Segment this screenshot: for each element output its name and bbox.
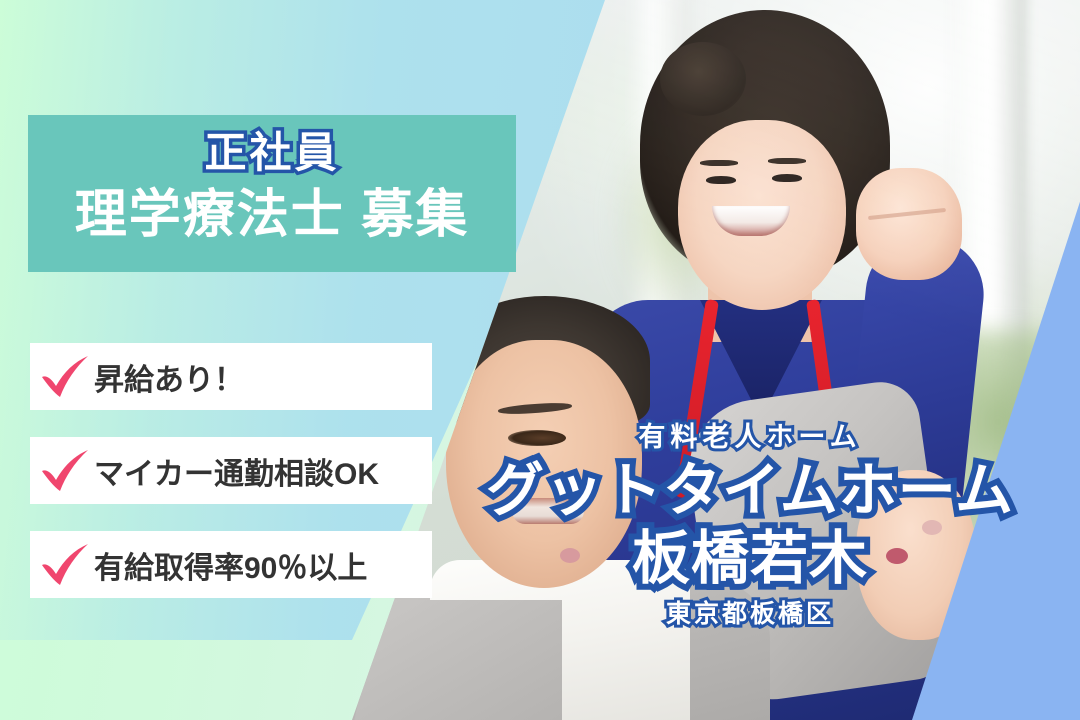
check-icon	[38, 447, 94, 495]
facility-area: 東京都板橋区	[470, 602, 1030, 627]
headline-band: 正社員 理学療法士 募集	[28, 115, 516, 272]
list-item: 有給取得率90％以上	[30, 531, 432, 598]
facility-name-line2: 板橋若木	[470, 525, 1030, 593]
recruitment-poster: 正社員 理学療法士 募集 昇給あり！ マイカー通勤相談OK	[0, 0, 1080, 720]
caregiver-eye-left	[706, 176, 736, 184]
page-title: 理学療法士 募集	[28, 183, 516, 248]
caregiver-fist	[856, 168, 962, 280]
list-item-label: 昇給あり！	[94, 355, 244, 399]
caregiver-eyebrow-left	[700, 160, 738, 166]
facility-name-line1: グットタイムホーム	[470, 457, 1030, 525]
caregiver-hair-bun	[660, 42, 746, 116]
facility-identity: 有料老人ホーム グットタイムホーム 板橋若木 東京都板橋区	[470, 424, 1030, 627]
benefits-checklist: 昇給あり！ マイカー通勤相談OK 有給取得率90％以上	[30, 343, 432, 625]
list-item-label: 有給取得率90％以上	[94, 543, 367, 587]
list-item: 昇給あり！	[30, 343, 432, 410]
check-icon	[38, 353, 94, 401]
caregiver-eyebrow-right	[768, 158, 806, 164]
list-item: マイカー通勤相談OK	[30, 437, 432, 504]
caregiver-eye-right	[772, 174, 802, 182]
check-icon	[38, 541, 94, 589]
employment-type-badge: 正社員	[28, 129, 516, 177]
list-item-label: マイカー通勤相談OK	[94, 449, 379, 493]
facility-kind: 有料老人ホーム	[470, 424, 1030, 451]
